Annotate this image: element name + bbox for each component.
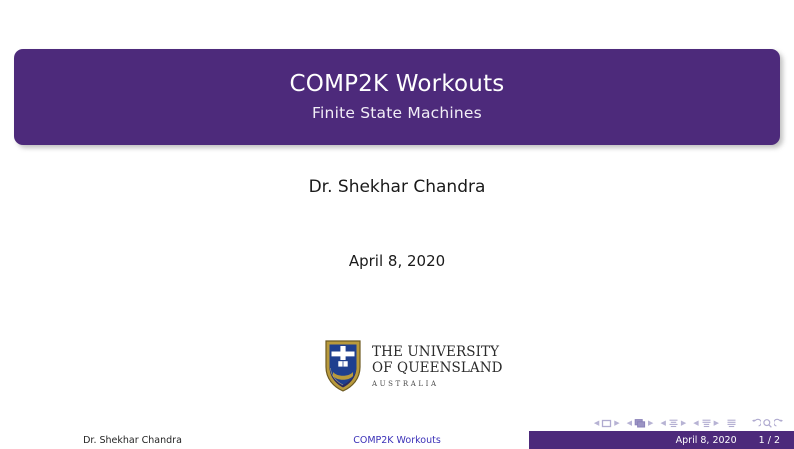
university-line-2: OF QUEENSLAND: [372, 360, 503, 376]
footer-page-number: 1 / 2: [759, 435, 780, 446]
forward-icon[interactable]: [774, 418, 785, 429]
footer-date: April 8, 2020: [676, 435, 737, 446]
prev-section-icon[interactable]: ◀: [693, 420, 698, 427]
nav-frame-group[interactable]: ◀ ▶: [627, 418, 654, 429]
next-slide-icon[interactable]: ▶: [614, 420, 619, 427]
nav-subsection-group[interactable]: ◀ ▶: [660, 418, 686, 429]
footline: Dr. Shekhar Chandra COMP2K Workouts Apri…: [0, 431, 794, 449]
uq-crest-icon: [322, 339, 364, 393]
subsection-icon[interactable]: [668, 418, 679, 429]
author-name: Dr. Shekhar Chandra: [0, 177, 794, 197]
frame-icon[interactable]: [634, 418, 646, 429]
footer-author: Dr. Shekhar Chandra: [0, 431, 265, 449]
page-title: COMP2K Workouts: [290, 72, 505, 97]
university-wordmark: THE UNIVERSITY OF QUEENSLAND AUSTRALIA: [372, 344, 503, 389]
nav-section-group[interactable]: ◀ ▶: [693, 418, 719, 429]
university-logo: THE UNIVERSITY OF QUEENSLAND AUSTRALIA: [322, 337, 477, 395]
appendix-icon[interactable]: [726, 418, 737, 429]
university-line-3: AUSTRALIA: [372, 380, 503, 388]
nav-misc-group[interactable]: [750, 418, 785, 429]
next-section-icon[interactable]: ▶: [714, 420, 719, 427]
prev-slide-icon[interactable]: ◀: [594, 420, 599, 427]
prev-subsection-icon[interactable]: ◀: [660, 420, 665, 427]
nav-appendix-group[interactable]: [726, 418, 737, 429]
title-block: COMP2K Workouts Finite State Machines: [14, 49, 780, 145]
footer-right-bar: April 8, 2020 1 / 2: [529, 431, 794, 449]
presentation-date: April 8, 2020: [0, 252, 794, 270]
page-subtitle: Finite State Machines: [312, 105, 482, 122]
next-frame-icon[interactable]: ▶: [648, 420, 653, 427]
university-line-1: THE UNIVERSITY: [372, 344, 503, 360]
back-icon[interactable]: [750, 418, 761, 429]
nav-slide-group[interactable]: ◀ ▶: [594, 418, 620, 429]
navigation-symbols[interactable]: ◀ ▶ ◀ ▶ ◀ ▶ ◀: [594, 416, 785, 430]
prev-frame-icon[interactable]: ◀: [627, 420, 632, 427]
search-icon[interactable]: [762, 418, 773, 429]
section-icon[interactable]: [701, 418, 712, 429]
next-subsection-icon[interactable]: ▶: [681, 420, 686, 427]
slide-icon[interactable]: [601, 418, 612, 429]
footer-title-link[interactable]: COMP2K Workouts: [265, 431, 529, 449]
